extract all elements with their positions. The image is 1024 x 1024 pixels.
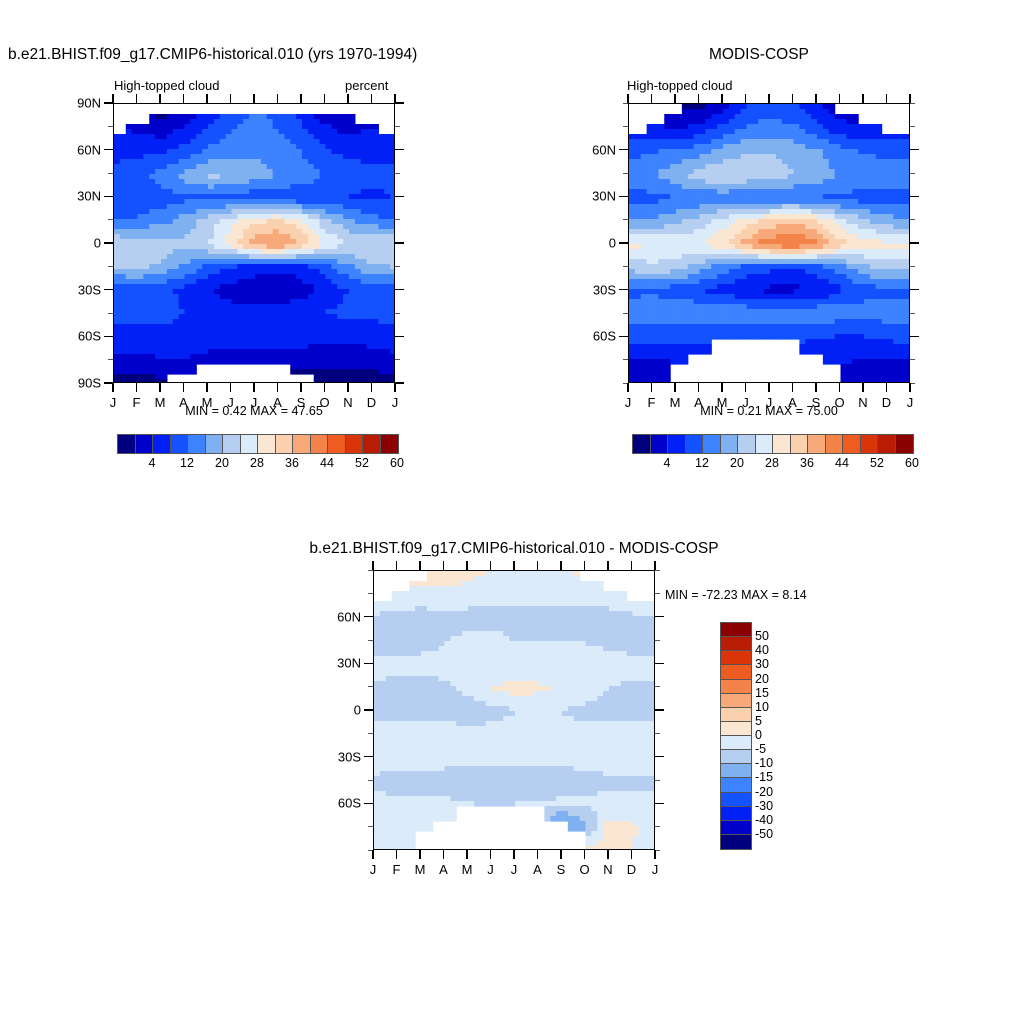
x-axis-month-label: M (415, 862, 426, 877)
y-tick-major-right (655, 616, 664, 618)
colorbar-swatch (896, 435, 914, 453)
y-tick-minor (395, 266, 400, 267)
x-tick-top (466, 561, 468, 570)
x-tick-top (862, 94, 864, 103)
colorbar-tick-label: 4 (149, 456, 156, 470)
x-tick-bottom (324, 383, 326, 392)
y-tick-minor (395, 173, 400, 174)
x-axis-month-label: J (652, 862, 659, 877)
y-tick-minor (655, 780, 660, 781)
panel-diff-title: b.e21.BHIST.f09_g17.CMIP6-historical.010… (309, 540, 718, 558)
x-tick-top (651, 94, 653, 103)
colorbar-swatch (721, 835, 751, 849)
y-axis-label: 60S (55, 329, 101, 344)
y-tick-minor (655, 686, 660, 687)
y-tick-major (619, 289, 628, 291)
y-tick-major (364, 709, 373, 711)
x-tick-bottom (721, 383, 723, 392)
y-axis-label: 30S (55, 282, 101, 297)
x-axis-month-label: F (393, 862, 401, 877)
x-tick-bottom (745, 383, 747, 392)
x-axis-month-label: J (370, 862, 377, 877)
colorbar-tick-label: 60 (390, 456, 404, 470)
x-tick-top (136, 94, 138, 103)
x-tick-top (372, 561, 374, 570)
colorbar-swatch (651, 435, 669, 453)
y-axis-label: 0 (570, 236, 616, 251)
colorbar-tick-label: 28 (250, 456, 264, 470)
x-axis-month-label: M (462, 862, 473, 877)
panel-obs-colorbar (632, 434, 914, 454)
x-axis-month-label: D (367, 395, 376, 410)
colorbar-tick-label: 12 (695, 456, 709, 470)
x-tick-top (112, 94, 114, 103)
colorbar-tick-label: 52 (355, 456, 369, 470)
x-tick-top (607, 561, 609, 570)
y-tick-minor (655, 593, 660, 594)
colorbar-swatch (721, 694, 751, 708)
panel-model-title: b.e21.BHIST.f09_g17.CMIP6-historical.010… (8, 46, 417, 64)
colorbar-tick-label: 5 (755, 714, 789, 728)
colorbar-tick-label: -30 (755, 799, 789, 813)
y-tick-major-right (395, 382, 404, 384)
colorbar-swatch (258, 435, 276, 453)
colorbar-swatch (206, 435, 224, 453)
colorbar-swatch (381, 435, 399, 453)
y-tick-minor (910, 359, 915, 360)
y-axis-label: 90S (55, 376, 101, 391)
colorbar-tick-label: 10 (755, 700, 789, 714)
colorbar-swatch (721, 736, 751, 750)
colorbar-swatch (738, 435, 756, 453)
y-tick-minor (623, 313, 628, 314)
x-tick-bottom (560, 850, 562, 859)
x-tick-top (396, 561, 398, 570)
x-axis-month-label: M (155, 395, 166, 410)
colorbar-tick-label: 12 (180, 456, 194, 470)
y-tick-minor (395, 313, 400, 314)
x-tick-bottom (815, 383, 817, 392)
colorbar-tick-label: 60 (905, 456, 919, 470)
y-tick-minor (910, 313, 915, 314)
y-tick-major (364, 663, 373, 665)
colorbar-swatch (188, 435, 206, 453)
colorbar-swatch (721, 680, 751, 694)
x-tick-top (560, 561, 562, 570)
y-tick-minor (368, 826, 373, 827)
panel-obs-title: MODIS-COSP (709, 46, 809, 64)
y-tick-minor (368, 780, 373, 781)
colorbar-tick-label: 20 (755, 672, 789, 686)
x-tick-top (253, 94, 255, 103)
colorbar-swatch (118, 435, 136, 453)
y-tick-minor (368, 686, 373, 687)
y-axis-label: 30S (315, 749, 361, 764)
y-tick-major (619, 336, 628, 338)
y-tick-major (104, 242, 113, 244)
x-tick-bottom (300, 383, 302, 392)
colorbar-swatch (721, 793, 751, 807)
y-tick-major-right (910, 196, 919, 198)
x-axis-month-label: O (579, 862, 589, 877)
x-axis-month-label: J (625, 395, 632, 410)
colorbar-swatch (311, 435, 329, 453)
y-tick-minor (395, 219, 400, 220)
x-axis-month-label: S (557, 862, 566, 877)
y-tick-minor (395, 359, 400, 360)
x-tick-bottom (230, 383, 232, 392)
y-tick-major (619, 196, 628, 198)
x-tick-top (674, 94, 676, 103)
y-tick-minor (108, 126, 113, 127)
x-axis-month-label: J (907, 395, 914, 410)
colorbar-swatch (328, 435, 346, 453)
colorbar-swatch (791, 435, 809, 453)
x-axis-month-label: D (882, 395, 891, 410)
x-tick-bottom (136, 383, 138, 392)
x-axis-month-label: N (858, 395, 867, 410)
colorbar-tick-label: 50 (755, 629, 789, 643)
y-tick-major (619, 149, 628, 151)
x-tick-bottom (443, 850, 445, 859)
panel-diff-colorbar (720, 622, 752, 850)
panel-obs-plot-area (628, 103, 910, 383)
colorbar-swatch (878, 435, 896, 453)
y-axis-label: 60N (315, 609, 361, 624)
x-tick-top (230, 94, 232, 103)
y-tick-major (104, 336, 113, 338)
colorbar-swatch (703, 435, 721, 453)
colorbar-tick-label: -5 (755, 742, 789, 756)
x-axis-month-label: J (392, 395, 399, 410)
x-axis-month-label: J (110, 395, 117, 410)
x-tick-top (490, 561, 492, 570)
x-axis-month-label: N (343, 395, 352, 410)
x-tick-top (394, 94, 396, 103)
y-tick-minor (910, 126, 915, 127)
colorbar-swatch (721, 764, 751, 778)
panel-model-minmax: MIN = 0.42 MAX = 47.65 (185, 404, 323, 418)
y-tick-major-right (655, 663, 664, 665)
x-tick-top (886, 94, 888, 103)
colorbar-swatch (861, 435, 879, 453)
x-tick-bottom (654, 850, 656, 859)
colorbar-swatch (721, 807, 751, 821)
x-tick-bottom (277, 383, 279, 392)
x-tick-top (277, 94, 279, 103)
x-axis-month-label: F (133, 395, 141, 410)
colorbar-tick-label: 4 (664, 456, 671, 470)
colorbar-swatch (721, 637, 751, 651)
y-tick-minor (108, 359, 113, 360)
y-tick-major (104, 149, 113, 151)
y-tick-major-right (655, 803, 664, 805)
x-tick-bottom (862, 383, 864, 392)
colorbar-swatch (293, 435, 311, 453)
ncl-climate-figure: { "figure": { "variable_label": "High-to… (0, 0, 1024, 1024)
y-tick-major-right (395, 289, 404, 291)
x-tick-bottom (839, 383, 841, 392)
x-tick-top (631, 561, 633, 570)
y-tick-minor (910, 266, 915, 267)
y-tick-major-right (910, 336, 919, 338)
x-tick-bottom (886, 383, 888, 392)
x-tick-bottom (627, 383, 629, 392)
y-tick-major-right (655, 709, 664, 711)
y-tick-minor (368, 640, 373, 641)
x-tick-bottom (792, 383, 794, 392)
colorbar-tick-label: 28 (765, 456, 779, 470)
x-tick-top (792, 94, 794, 103)
x-axis-month-label: J (487, 862, 494, 877)
panel-model-right-subtitle: percent (345, 78, 388, 93)
x-tick-top (654, 561, 656, 570)
y-tick-major (364, 756, 373, 758)
y-axis-label: 30N (315, 656, 361, 671)
y-axis-label: 60S (315, 796, 361, 811)
x-tick-bottom (419, 850, 421, 859)
colorbar-tick-label: 44 (835, 456, 849, 470)
y-tick-minor (655, 733, 660, 734)
y-axis-label: 30S (570, 282, 616, 297)
x-tick-bottom (651, 383, 653, 392)
colorbar-tick-label: -15 (755, 770, 789, 784)
x-tick-bottom (112, 383, 114, 392)
y-tick-major-right (395, 336, 404, 338)
x-tick-top (537, 561, 539, 570)
colorbar-tick-label: -20 (755, 785, 789, 799)
y-tick-major-right (395, 242, 404, 244)
y-axis-label: 30N (55, 189, 101, 204)
x-tick-top (183, 94, 185, 103)
x-tick-bottom (698, 383, 700, 392)
panel-model-contour-field (114, 104, 395, 383)
x-tick-top (584, 561, 586, 570)
y-tick-minor (108, 266, 113, 267)
colorbar-tick-label: 20 (730, 456, 744, 470)
x-tick-top (627, 94, 629, 103)
y-tick-minor (108, 219, 113, 220)
x-tick-bottom (372, 850, 374, 859)
y-tick-major-right (910, 242, 919, 244)
colorbar-swatch (756, 435, 774, 453)
colorbar-swatch (721, 750, 751, 764)
colorbar-swatch (721, 708, 751, 722)
y-tick-major-right (395, 196, 404, 198)
y-tick-major-right (395, 149, 404, 151)
colorbar-swatch (721, 665, 751, 679)
panel-obs-contour-field (629, 104, 910, 383)
x-tick-top (159, 94, 161, 103)
y-tick-major (104, 289, 113, 291)
x-tick-bottom (347, 383, 349, 392)
y-tick-minor (910, 219, 915, 220)
x-tick-bottom (490, 850, 492, 859)
x-tick-bottom (253, 383, 255, 392)
x-axis-month-label: M (670, 395, 681, 410)
x-tick-top (815, 94, 817, 103)
colorbar-swatch (721, 722, 751, 736)
x-tick-top (698, 94, 700, 103)
y-tick-minor (655, 640, 660, 641)
y-tick-minor (655, 826, 660, 827)
colorbar-swatch (721, 651, 751, 665)
y-tick-minor (108, 313, 113, 314)
x-axis-month-label: A (439, 862, 448, 877)
colorbar-tick-label: 52 (870, 456, 884, 470)
x-axis-month-label: J (511, 862, 518, 877)
colorbar-swatch (721, 778, 751, 792)
x-tick-top (324, 94, 326, 103)
colorbar-tick-label: 0 (755, 728, 789, 742)
x-tick-bottom (584, 850, 586, 859)
y-tick-minor (395, 126, 400, 127)
colorbar-tick-label: 30 (755, 657, 789, 671)
colorbar-tick-label: 20 (215, 456, 229, 470)
x-tick-top (443, 561, 445, 570)
y-tick-minor (910, 173, 915, 174)
x-tick-bottom (371, 383, 373, 392)
x-tick-top (206, 94, 208, 103)
colorbar-tick-label: -10 (755, 756, 789, 770)
y-tick-major (364, 616, 373, 618)
x-tick-bottom (183, 383, 185, 392)
colorbar-swatch (171, 435, 189, 453)
y-tick-minor (623, 219, 628, 220)
x-axis-month-label: D (627, 862, 636, 877)
x-tick-bottom (159, 383, 161, 392)
panel-diff-contour-field (374, 571, 655, 850)
y-tick-minor (623, 173, 628, 174)
y-axis-label: 60N (570, 142, 616, 157)
x-tick-bottom (674, 383, 676, 392)
colorbar-swatch (668, 435, 686, 453)
x-tick-bottom (396, 850, 398, 859)
y-axis-label: 30N (570, 189, 616, 204)
colorbar-swatch (808, 435, 826, 453)
y-tick-minor (368, 733, 373, 734)
x-tick-bottom (394, 383, 396, 392)
y-tick-minor (368, 593, 373, 594)
x-tick-bottom (607, 850, 609, 859)
y-axis-label: 0 (315, 703, 361, 718)
y-tick-minor (108, 173, 113, 174)
y-tick-major-right (655, 756, 664, 758)
x-tick-bottom (513, 850, 515, 859)
colorbar-swatch (153, 435, 171, 453)
x-tick-bottom (537, 850, 539, 859)
x-axis-month-label: F (648, 395, 656, 410)
panel-model-plot-area (113, 103, 395, 383)
x-tick-top (419, 561, 421, 570)
panel-diff-minmax: MIN = -72.23 MAX = 8.14 (665, 588, 807, 602)
x-tick-bottom (466, 850, 468, 859)
colorbar-swatch (843, 435, 861, 453)
x-axis-month-label: N (603, 862, 612, 877)
y-tick-minor (623, 126, 628, 127)
panel-obs-left-subtitle: High-topped cloud (627, 78, 733, 93)
colorbar-tick-label: -40 (755, 813, 789, 827)
y-axis-label: 60S (570, 329, 616, 344)
colorbar-swatch (223, 435, 241, 453)
x-tick-top (839, 94, 841, 103)
x-tick-bottom (768, 383, 770, 392)
y-tick-minor (623, 266, 628, 267)
panel-diff-plot-area (373, 570, 655, 850)
y-tick-major (364, 803, 373, 805)
y-tick-major (619, 242, 628, 244)
x-axis-month-label: A (533, 862, 542, 877)
colorbar-swatch (721, 623, 751, 637)
panel-model-colorbar (117, 434, 399, 454)
colorbar-swatch (721, 435, 739, 453)
y-tick-minor (623, 359, 628, 360)
colorbar-swatch (686, 435, 704, 453)
y-axis-label: 60N (55, 142, 101, 157)
x-tick-top (768, 94, 770, 103)
x-tick-top (371, 94, 373, 103)
colorbar-swatch (773, 435, 791, 453)
y-tick-major-right (395, 102, 404, 104)
x-tick-bottom (206, 383, 208, 392)
colorbar-swatch (633, 435, 651, 453)
colorbar-tick-label: 40 (755, 643, 789, 657)
colorbar-tick-label: 36 (285, 456, 299, 470)
panel-obs-minmax: MIN = 0.21 MAX = 75.00 (700, 404, 838, 418)
y-axis-label: 0 (55, 236, 101, 251)
colorbar-tick-label: 36 (800, 456, 814, 470)
x-tick-top (347, 94, 349, 103)
y-tick-major (104, 196, 113, 198)
colorbar-tick-label: -50 (755, 827, 789, 841)
colorbar-swatch (276, 435, 294, 453)
colorbar-swatch (136, 435, 154, 453)
colorbar-swatch (241, 435, 259, 453)
colorbar-tick-label: 15 (755, 686, 789, 700)
x-tick-bottom (909, 383, 911, 392)
y-tick-major-right (910, 149, 919, 151)
x-tick-top (300, 94, 302, 103)
x-tick-bottom (631, 850, 633, 859)
panel-model-left-subtitle: High-topped cloud (114, 78, 220, 93)
colorbar-swatch (721, 821, 751, 835)
x-tick-top (513, 561, 515, 570)
colorbar-swatch (346, 435, 364, 453)
x-tick-top (909, 94, 911, 103)
x-tick-top (721, 94, 723, 103)
y-tick-major-right (910, 289, 919, 291)
colorbar-swatch (363, 435, 381, 453)
y-axis-label: 90N (55, 96, 101, 111)
colorbar-tick-label: 44 (320, 456, 334, 470)
x-tick-top (745, 94, 747, 103)
colorbar-swatch (826, 435, 844, 453)
